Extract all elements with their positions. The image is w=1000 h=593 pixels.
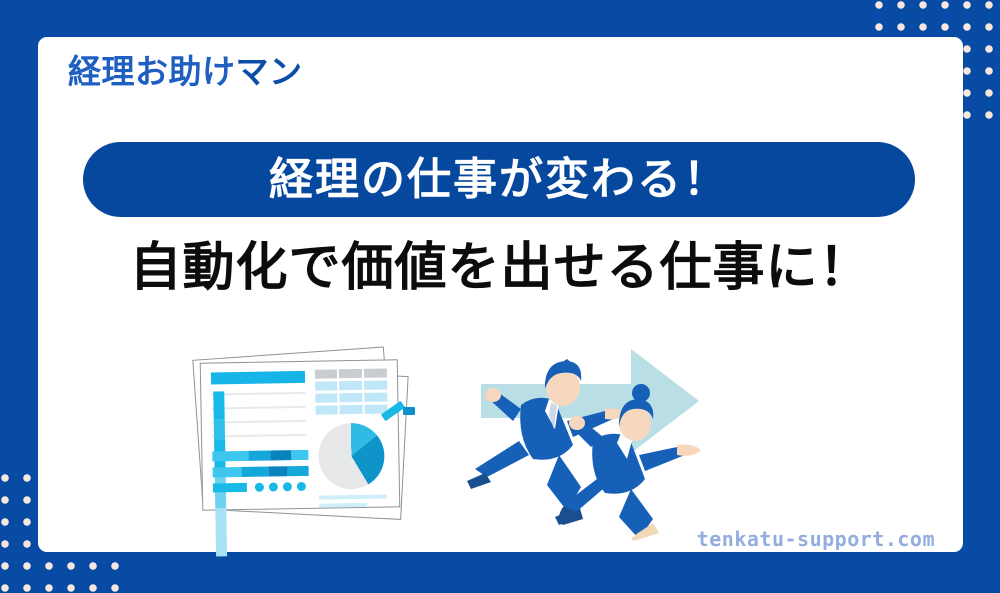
- brand-logo: 経理お助けマン: [68, 55, 303, 88]
- report-dot-marker: [283, 482, 292, 491]
- report-dot-marker: [297, 482, 306, 491]
- report-pill-marker: [213, 483, 247, 493]
- report-footer-line: [319, 494, 387, 499]
- brand-logo-secondary-text: マン: [236, 53, 303, 90]
- running-business-people-illustration: [463, 337, 723, 542]
- report-title-bar: [211, 371, 305, 385]
- report-dot-marker: [255, 483, 264, 492]
- report-bar-chart: [213, 390, 306, 440]
- site-url-text: tenkatu-support.com: [697, 527, 935, 551]
- report-progress-bar: [213, 466, 309, 478]
- report-data-table: [315, 368, 388, 415]
- headline-pill-banner: 経理の仕事が変わる！: [83, 142, 915, 217]
- brand-logo-primary-text: 経理お助け: [68, 53, 236, 90]
- report-progress-bar: [212, 450, 308, 462]
- banner-canvas: 経理お助けマン 経理の仕事が変わる！ 自動化で価値を出せる仕事に！: [0, 0, 1000, 593]
- pencil-icon: [379, 395, 419, 423]
- illustration-row: tenkatu-support.com: [38, 337, 963, 552]
- report-bar: [215, 508, 227, 556]
- headline-banner-text: 経理の仕事が変わる！: [269, 158, 729, 202]
- report-pie-chart: [318, 423, 385, 490]
- report-bar: [214, 419, 225, 439]
- subheadline-text: 自動化で価値を出せる仕事に！: [38, 242, 963, 294]
- report-bar: [213, 391, 224, 419]
- report-footer-line: [319, 503, 367, 508]
- report-documents-illustration: [183, 349, 413, 524]
- content-card: 経理お助けマン 経理の仕事が変わる！ 自動化で価値を出せる仕事に！: [38, 37, 963, 552]
- report-dot-marker: [269, 482, 278, 491]
- report-paper-front: [200, 359, 401, 510]
